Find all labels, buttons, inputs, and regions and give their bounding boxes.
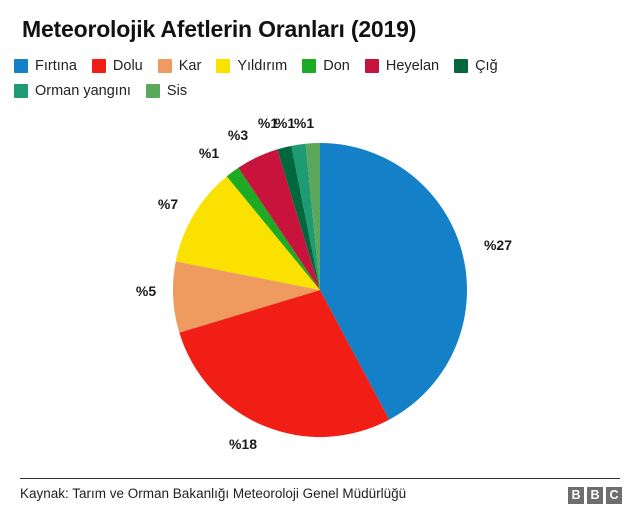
legend-item-7[interactable]: Orman yangını [14, 81, 131, 101]
legend-swatch-icon [14, 59, 28, 73]
legend-item-label: Don [323, 58, 350, 74]
bbc-logo-letter: B [587, 487, 603, 504]
chart-legend: FırtınaDoluKarYıldırımDonHeyelanÇığOrman… [14, 56, 626, 101]
pie-chart: %27%18%5%7%1%3%1%1%1 [0, 108, 640, 458]
legend-item-label: Dolu [113, 58, 143, 74]
legend-swatch-icon [454, 59, 468, 73]
bbc-logo: BBC [568, 487, 622, 504]
legend-item-2[interactable]: Kar [158, 56, 202, 76]
pie-slice-label: %18 [229, 436, 257, 452]
legend-item-label: Fırtına [35, 58, 77, 74]
legend-item-6[interactable]: Çığ [454, 56, 498, 76]
legend-item-0[interactable]: Fırtına [14, 56, 77, 76]
legend-swatch-icon [158, 59, 172, 73]
legend-item-label: Kar [179, 58, 202, 74]
bbc-logo-letter: C [606, 487, 622, 504]
legend-item-label: Çığ [475, 58, 498, 74]
legend-swatch-icon [365, 59, 379, 73]
legend-item-4[interactable]: Don [302, 56, 350, 76]
pie-slice-label: %3 [228, 127, 248, 143]
legend-item-8[interactable]: Sis [146, 81, 187, 101]
pie-slice-group [173, 143, 467, 437]
pie-slice-label: %1 [294, 115, 314, 131]
source-caption: Kaynak: Tarım ve Orman Bakanlığı Meteoro… [20, 486, 406, 501]
bbc-logo-letter: B [568, 487, 584, 504]
legend-item-3[interactable]: Yıldırım [216, 56, 287, 76]
legend-swatch-icon [92, 59, 106, 73]
legend-swatch-icon [216, 59, 230, 73]
footer-divider [20, 478, 620, 479]
legend-swatch-icon [146, 84, 160, 98]
legend-item-label: Heyelan [386, 58, 439, 74]
legend-swatch-icon [14, 84, 28, 98]
legend-item-label: Orman yangını [35, 83, 131, 99]
pie-slice-label: %1 [275, 115, 295, 131]
pie-chart-svg: %27%18%5%7%1%3%1%1%1 [0, 108, 640, 458]
legend-item-5[interactable]: Heyelan [365, 56, 439, 76]
pie-slice-label: %5 [136, 283, 156, 299]
chart-card: Meteorolojik Afetlerin Oranları (2019) F… [0, 0, 640, 526]
legend-item-label: Sis [167, 83, 187, 99]
pie-slice-label: %27 [484, 237, 512, 253]
pie-slice-label: %1 [199, 145, 219, 161]
legend-item-1[interactable]: Dolu [92, 56, 143, 76]
legend-item-label: Yıldırım [237, 58, 287, 74]
legend-swatch-icon [302, 59, 316, 73]
pie-slice-label: %7 [158, 196, 178, 212]
page-title: Meteorolojik Afetlerin Oranları (2019) [22, 16, 416, 43]
